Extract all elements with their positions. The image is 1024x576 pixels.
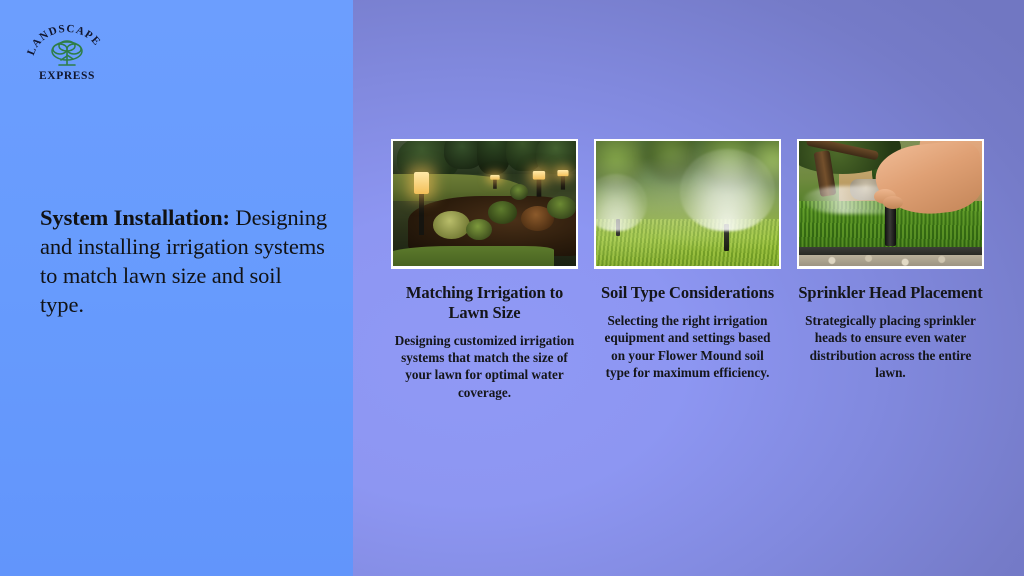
- left-headline-paragraph: System Installation: Designing and insta…: [40, 204, 328, 320]
- left-headline-lead: System Installation:: [40, 205, 230, 230]
- landscape-express-logo[interactable]: LANDSCAPE EXPRESS: [26, 22, 108, 82]
- card-title: Sprinkler Head Placement: [798, 283, 984, 303]
- photo-dusk-garden-with-path-lights: [393, 141, 576, 266]
- feature-card-row: Matching Irrigation to Lawn Size Designi…: [391, 139, 985, 401]
- photo-hand-adjusting-sprinkler-head: [799, 141, 982, 266]
- card-body: Strategically placing sprinkler heads to…: [801, 312, 981, 382]
- card-photo-frame: [391, 139, 578, 269]
- card-photo-frame: [594, 139, 781, 269]
- card-title: Matching Irrigation to Lawn Size: [392, 283, 578, 323]
- card-photo-frame: [797, 139, 984, 269]
- feature-card: Matching Irrigation to Lawn Size Designi…: [391, 139, 578, 401]
- left-panel: LANDSCAPE EXPRESS System I: [0, 0, 353, 576]
- card-body: Selecting the right irrigation equipment…: [598, 312, 778, 382]
- photo-lawn-sprinklers-spraying-water: [596, 141, 779, 266]
- feature-card: Soil Type Considerations Selecting the r…: [594, 139, 781, 401]
- card-title: Soil Type Considerations: [595, 283, 781, 303]
- svg-text:EXPRESS: EXPRESS: [39, 70, 95, 82]
- feature-card: Sprinkler Head Placement Strategically p…: [797, 139, 984, 401]
- slide-canvas: LANDSCAPE EXPRESS System I: [0, 0, 1024, 576]
- card-body: Designing customized irrigation systems …: [395, 332, 575, 402]
